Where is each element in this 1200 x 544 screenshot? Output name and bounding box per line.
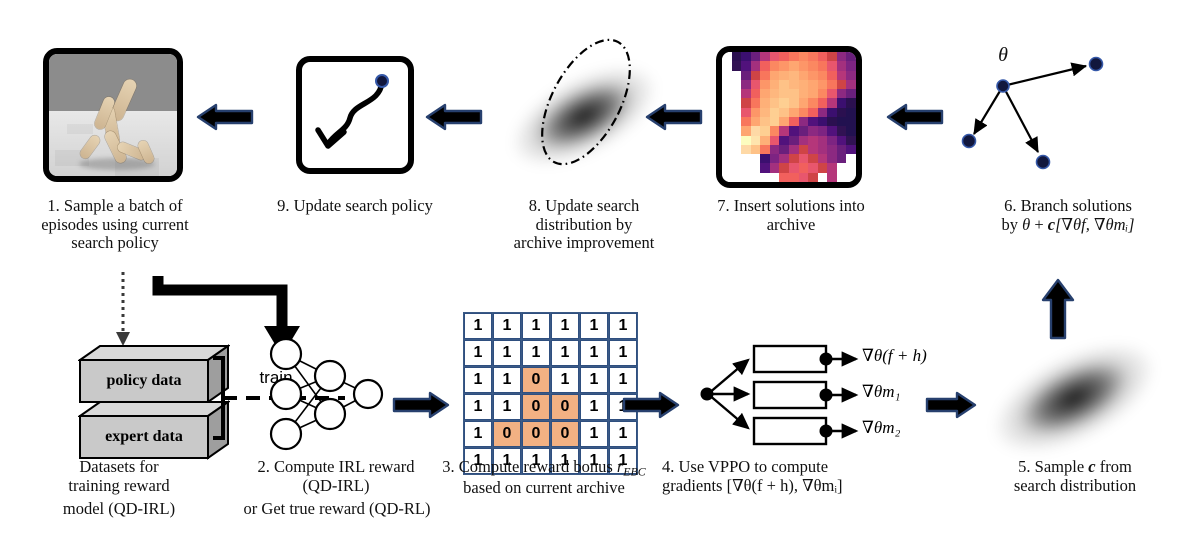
grid-cell-zero: 0	[522, 394, 550, 420]
grid-cell: 1	[551, 340, 579, 366]
step7-caption-line1: 7. Insert solutions into	[685, 197, 897, 216]
grid-row: 111111	[464, 340, 637, 366]
policy-trajectory-curve	[302, 62, 408, 168]
step6-plus: +	[1030, 215, 1048, 234]
diagram-canvas: 1. Sample a batch of episodes using curr…	[0, 0, 1200, 544]
step9-caption-line1: 9. Update search policy	[250, 197, 460, 216]
arrow-4-to-5	[925, 388, 977, 422]
grad-m1-label: ∇θm₁	[862, 382, 900, 402]
step8-caption: 8. Update search distribution by archive…	[478, 197, 690, 253]
grid-cell: 1	[580, 394, 608, 420]
grid-row: 110011	[464, 394, 637, 420]
grid-cell: 1	[464, 394, 492, 420]
grid-cell-zero: 0	[551, 421, 579, 447]
step2-neural-network	[258, 336, 388, 456]
step4-caption: 4. Use VPPO to compute gradients [∇θ(f +…	[662, 458, 962, 495]
step2-true-reward: or Get true reward (QD-RL)	[222, 500, 452, 519]
step9-policy-box	[296, 56, 414, 174]
step1-caption-line1: 1. Sample a batch of	[0, 197, 230, 216]
grid-cell: 1	[580, 313, 608, 339]
policy-data-label: policy data	[80, 360, 208, 402]
step6-caption-line1: 6. Branch solutions	[952, 197, 1184, 216]
grid-cell: 1	[551, 313, 579, 339]
step3-caption: 3. Compute reward bonus rEBC based on cu…	[398, 458, 690, 497]
grid-cell-zero: 0	[522, 421, 550, 447]
step6-c: c	[1048, 215, 1055, 234]
datasets-caption-line3: model (QD-IRL)	[6, 500, 232, 519]
floor-tile	[67, 124, 93, 134]
step4-vppo: ∇θ(f + h) ∇θm₁ ∇θm₂	[688, 336, 908, 456]
step8-caption-line3: archive improvement	[478, 234, 690, 253]
grid-cell-zero: 0	[551, 394, 579, 420]
grid-cell: 1	[464, 340, 492, 366]
dashdot-ellipse	[498, 30, 668, 195]
datasets-caption-model: model (QD-IRL)	[6, 500, 232, 519]
step6-grads: [∇θf, ∇θmᵢ]	[1055, 215, 1134, 234]
step6-by: by	[1001, 215, 1022, 234]
grid-cell: 1	[580, 340, 608, 366]
step8-search-distribution	[498, 30, 668, 195]
step6-caption: 6. Branch solutions by θ + c[∇θf, ∇θmᵢ]	[952, 197, 1184, 234]
gaussian-blob	[976, 320, 1173, 476]
step3-binary-grid: 111111 111111 110111 110011 100011 11111…	[463, 312, 638, 475]
grid-body: 111111 111111 110111 110011 100011 11111…	[464, 313, 637, 474]
grid-cell: 1	[609, 421, 637, 447]
step2-caption-line3: or Get true reward (QD-RL)	[222, 500, 452, 519]
step6-branch-tree: θ	[960, 40, 1160, 190]
step3-caption-line1: 3. Compute reward bonus rEBC	[398, 458, 690, 479]
grid-cell: 1	[580, 421, 608, 447]
step1-caption-line3: search policy	[0, 234, 230, 253]
grid-cell: 1	[464, 421, 492, 447]
arrow-2-to-3	[392, 388, 450, 422]
datasets-caption-line2: training reward	[10, 477, 228, 496]
grad-fh-label: ∇θ(f + h)	[862, 346, 927, 366]
grid-cell: 1	[609, 340, 637, 366]
arrow-9-to-1	[196, 100, 254, 134]
grid-cell: 1	[522, 340, 550, 366]
grid-cell: 1	[609, 313, 637, 339]
step4-caption-line1: 4. Use VPPO to compute	[662, 458, 962, 477]
grid-row: 100011	[464, 421, 637, 447]
step6-caption-line2: by θ + c[∇θf, ∇θmᵢ]	[952, 216, 1184, 235]
grid-cell: 1	[493, 394, 521, 420]
step1-caption: 1. Sample a batch of episodes using curr…	[0, 197, 230, 253]
grid-cell: 1	[464, 367, 492, 393]
step4-caption-line2: gradients [∇θ(f + h), ∇θmᵢ]	[662, 477, 962, 496]
expert-data-label: expert data	[80, 416, 208, 458]
arrow-7-to-8	[645, 100, 703, 134]
step7-caption-line2: archive	[685, 216, 897, 235]
grid-cell: 1	[580, 367, 608, 393]
step7-caption: 7. Insert solutions into archive	[685, 197, 897, 234]
step5-prefix: 5. Sample	[1018, 457, 1088, 476]
datasets-caption: Datasets for training reward	[10, 458, 228, 495]
datasets-caption-line1: Datasets for	[10, 458, 228, 477]
step1-episode-thumbnail	[43, 48, 183, 182]
step5-caption-line1: 5. Sample c from	[960, 458, 1190, 477]
step3-prefix: 3. Compute reward bonus	[442, 457, 617, 476]
grid-cell: 1	[493, 340, 521, 366]
step1-caption-line2: episodes using current	[0, 216, 230, 235]
grad-m2-label: ∇θm₂	[862, 418, 900, 438]
grid-cell: 1	[493, 367, 521, 393]
step5-caption: 5. Sample c from search distribution	[960, 458, 1190, 495]
arrow-3-to-4	[622, 388, 680, 422]
step5-suffix: from	[1096, 457, 1132, 476]
grid-cell: 1	[493, 313, 521, 339]
step3-caption-line2: based on current archive	[398, 479, 690, 498]
theta-label: θ	[986, 44, 1020, 67]
step3-r-subscript: EBC	[623, 464, 645, 478]
step8-caption-line2: distribution by	[478, 216, 690, 235]
step5-search-distribution	[975, 348, 1175, 456]
step5-caption-line2: search distribution	[960, 477, 1190, 496]
grid-cell: 1	[522, 313, 550, 339]
arrow-5-to-6	[1040, 278, 1076, 340]
archive-heatmap	[722, 52, 856, 182]
step9-caption: 9. Update search policy	[250, 197, 460, 216]
step6-theta: θ	[1022, 215, 1030, 234]
grid-row: 111111	[464, 313, 637, 339]
grid-row: 110111	[464, 367, 637, 393]
grid-cell-zero: 0	[522, 367, 550, 393]
grid-cell: 1	[551, 367, 579, 393]
grid-cell-zero: 0	[493, 421, 521, 447]
step5-c-symbol: c	[1088, 457, 1095, 476]
nn-graph	[258, 336, 388, 456]
arrow-8-to-9	[425, 100, 483, 134]
grid-cell: 1	[464, 313, 492, 339]
step8-caption-line1: 8. Update search	[478, 197, 690, 216]
arrow-6-to-7	[886, 100, 944, 134]
step7-archive-panel	[716, 46, 862, 188]
